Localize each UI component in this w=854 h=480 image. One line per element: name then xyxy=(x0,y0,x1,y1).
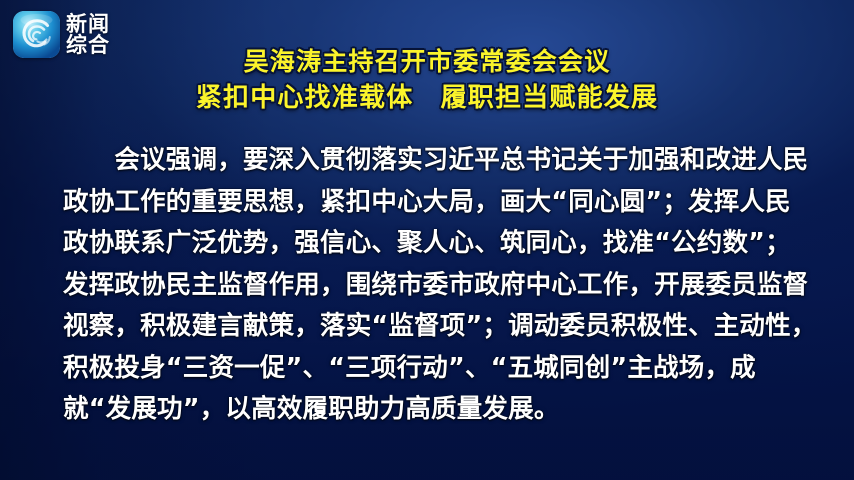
channel-name: 新闻 综合 xyxy=(66,13,110,57)
body-line: 政协联系广泛优势，强信心、聚人心、筑同心，找准“公约数”； xyxy=(63,223,797,265)
body-line: 就“发展功”，以高效履职助力高质量发展。 xyxy=(63,389,797,431)
news-body-text: 会议强调，要深入贯彻落实习近平总书记关于加强和改进人民 政协工作的重要思想，紧扣… xyxy=(63,140,797,431)
headline-line-2: 紧扣中心找准载体 履职担当赋能发展 xyxy=(0,80,854,116)
channel-name-line-1: 新闻 xyxy=(66,14,110,35)
channel-logo-bug: 新闻 综合 xyxy=(13,11,110,58)
headline: 吴海涛主持召开市委常委会会议 紧扣中心找准载体 履职担当赋能发展 xyxy=(0,44,854,116)
swirl-vortex-icon xyxy=(13,11,60,58)
body-line: 发挥政协民主监督作用，围绕市委市政府中心工作，开展委员监督 xyxy=(63,265,797,307)
broadcast-news-frame: 新闻 综合 吴海涛主持召开市委常委会会议 紧扣中心找准载体 履职担当赋能发展 会… xyxy=(0,0,854,480)
headline-line-1: 吴海涛主持召开市委常委会会议 xyxy=(0,44,854,80)
body-line: 积极投身“三资一促”、“三项行动”、“五城同创”主战场，成 xyxy=(63,348,797,390)
body-line: 视察，积极建言献策，落实“监督项”；调动委员积极性、主动性， xyxy=(63,306,797,348)
channel-name-line-2: 综合 xyxy=(66,35,110,56)
body-line: 政协工作的重要思想，紧扣中心大局，画大“同心圆”；发挥人民 xyxy=(63,182,797,224)
body-line: 会议强调，要深入贯彻落实习近平总书记关于加强和改进人民 xyxy=(63,140,797,182)
